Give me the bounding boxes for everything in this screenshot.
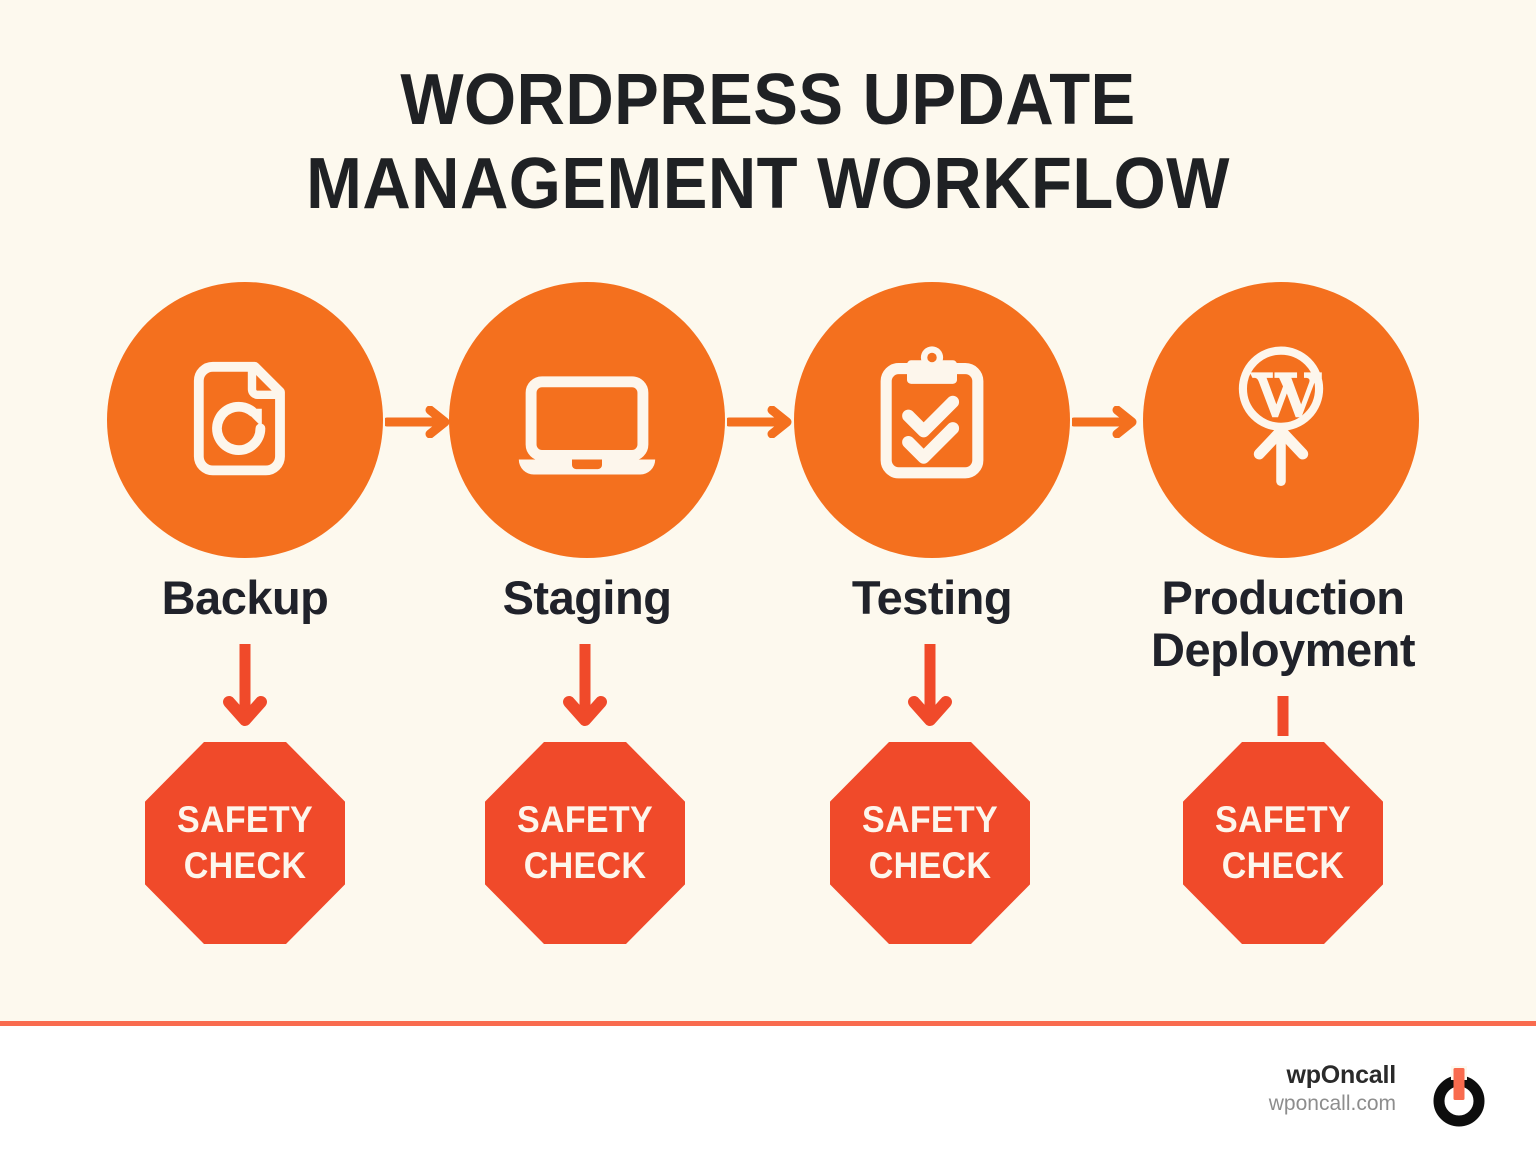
arrow-right-icon — [385, 406, 455, 438]
document-restore-icon — [175, 350, 315, 490]
step-label-testing: Testing — [767, 572, 1097, 624]
step-circle-backup[interactable] — [107, 282, 383, 558]
infographic-page: WordPress Update Management Workflow — [0, 0, 1536, 1154]
down-connector-row — [0, 640, 1536, 750]
safety-check-line1: SAFETY — [177, 797, 313, 843]
safety-check-line1: SAFETY — [517, 797, 653, 843]
safety-check-row: SAFETY CHECK SAFETY CHECK SAFETY CHECK — [0, 742, 1536, 947]
power-button-icon — [1426, 1064, 1492, 1130]
step-label-staging: Staging — [422, 572, 752, 624]
brand-block: wpOncall wponcall.com — [1269, 1060, 1396, 1118]
safety-check-badge-backup[interactable]: SAFETY CHECK — [145, 742, 345, 944]
arrow-down-icon — [563, 640, 607, 736]
brand-name: wpOncall — [1269, 1060, 1396, 1090]
arrow-right-icon — [727, 406, 797, 438]
footer: wpOncall wponcall.com — [0, 1026, 1536, 1154]
step-circle-staging[interactable] — [449, 282, 725, 558]
brand-url[interactable]: wponcall.com — [1269, 1090, 1396, 1118]
safety-check-badge-production-deployment[interactable]: SAFETY CHECK — [1183, 742, 1383, 944]
clipboard-check-icon — [862, 345, 1002, 495]
safety-check-label: SAFETY CHECK — [838, 742, 1022, 944]
safety-check-label: SAFETY CHECK — [153, 742, 337, 944]
safety-check-label: SAFETY CHECK — [493, 742, 677, 944]
arrow-down-icon — [908, 640, 952, 736]
safety-check-badge-staging[interactable]: SAFETY CHECK — [485, 742, 685, 944]
arrow-right-icon — [1072, 406, 1142, 438]
step-circle-testing[interactable] — [794, 282, 1070, 558]
workflow-step-row — [0, 282, 1536, 572]
safety-check-line2: CHECK — [869, 843, 991, 889]
laptop-icon — [512, 350, 662, 490]
safety-check-line2: CHECK — [524, 843, 646, 889]
safety-check-label: SAFETY CHECK — [1191, 742, 1375, 944]
safety-check-line1: SAFETY — [1215, 797, 1351, 843]
arrow-down-icon — [223, 640, 267, 736]
step-label-backup: Backup — [80, 572, 410, 624]
safety-check-line2: CHECK — [184, 843, 306, 889]
arrow-down-icon — [1261, 640, 1305, 736]
step-circle-production-deployment[interactable] — [1143, 282, 1419, 558]
safety-check-line2: CHECK — [1222, 843, 1344, 889]
safety-check-line1: SAFETY — [862, 797, 998, 843]
wordpress-upload-icon — [1213, 345, 1349, 495]
page-title: WordPress Update Management Workflow — [164, 58, 1373, 226]
safety-check-badge-testing[interactable]: SAFETY CHECK — [830, 742, 1030, 944]
diagram-canvas: WordPress Update Management Workflow — [0, 0, 1536, 1024]
